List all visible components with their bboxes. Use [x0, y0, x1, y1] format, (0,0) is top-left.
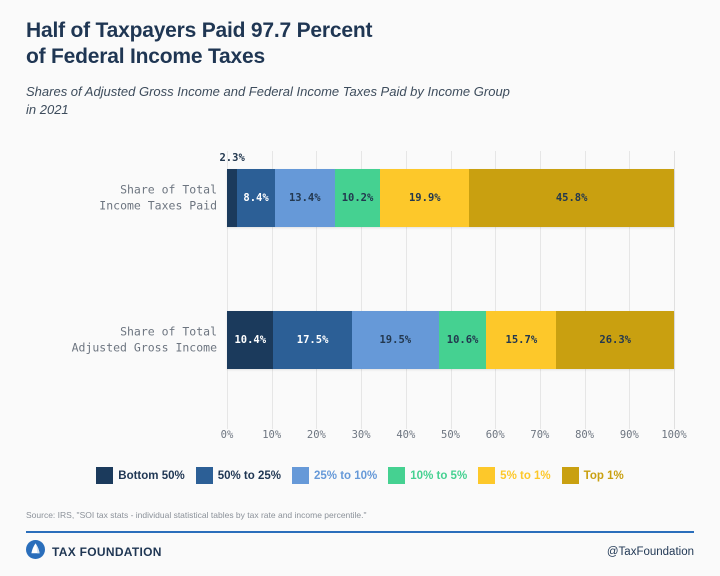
- x-tick-label: 100%: [661, 429, 686, 441]
- legend-label: Bottom 50%: [118, 470, 184, 482]
- brand: TAX FOUNDATION: [26, 540, 162, 564]
- x-tick-label: 80%: [575, 429, 594, 441]
- legend-swatch-icon: [478, 467, 495, 484]
- bar-segment[interactable]: 17.5%: [273, 311, 351, 369]
- bar-segment[interactable]: 19.9%: [380, 169, 469, 227]
- x-tick-label: 60%: [486, 429, 505, 441]
- legend-swatch-icon: [96, 467, 113, 484]
- bar-segment-label: 19.9%: [409, 192, 441, 204]
- bar-segment-label: 19.5%: [379, 334, 411, 346]
- category-label: Share of Total Adjusted Gross Income: [27, 324, 217, 357]
- chart-figure: Half of Taxpayers Paid 97.7 Percent of F…: [0, 0, 720, 576]
- legend-swatch-icon: [388, 467, 405, 484]
- gridline: [674, 151, 675, 429]
- chart-subtitle: Shares of Adjusted Gross Income and Fede…: [26, 83, 686, 119]
- legend-label: 10% to 5%: [410, 470, 467, 482]
- bar-segment[interactable]: 19.5%: [352, 311, 439, 369]
- bar-segment-label: 10.6%: [447, 334, 479, 346]
- social-handle: @TaxFoundation: [607, 546, 694, 558]
- legend-swatch-icon: [292, 467, 309, 484]
- bar-segment-label: 15.7%: [506, 334, 538, 346]
- bar-segment[interactable]: 10.6%: [439, 311, 486, 369]
- legend-label: Top 1%: [584, 470, 624, 482]
- plot-area: Share of Total Income Taxes Paid2.3%2.3%…: [0, 133, 720, 465]
- bar-row: Share of Total Income Taxes Paid2.3%2.3%…: [227, 169, 674, 227]
- legend-label: 50% to 25%: [218, 470, 281, 482]
- legend-item[interactable]: 10% to 5%: [388, 467, 467, 484]
- bar-segment-label: 10.2%: [342, 192, 374, 204]
- x-tick-label: 50%: [441, 429, 460, 441]
- x-axis: 0%10%20%30%40%50%60%70%80%90%100%: [227, 429, 674, 445]
- bar-segment-callout: 2.3%: [219, 152, 244, 164]
- legend-item[interactable]: Bottom 50%: [96, 467, 184, 484]
- bar-segment-label: 45.8%: [556, 192, 588, 204]
- stacked-bar: 10.4%17.5%19.5%10.6%15.7%26.3%: [227, 311, 674, 369]
- legend-label: 25% to 10%: [314, 470, 377, 482]
- bar-segment[interactable]: 10.2%: [335, 169, 381, 227]
- legend-label: 5% to 1%: [500, 470, 551, 482]
- legend-swatch-icon: [562, 467, 579, 484]
- x-tick-label: 0%: [221, 429, 234, 441]
- bar-row: Share of Total Adjusted Gross Income10.4…: [227, 311, 674, 369]
- category-label: Share of Total Income Taxes Paid: [27, 182, 217, 215]
- page-title: Half of Taxpayers Paid 97.7 Percent of F…: [26, 18, 694, 70]
- bar-segment-label: 10.4%: [234, 334, 266, 346]
- legend-item[interactable]: Top 1%: [562, 467, 624, 484]
- chart-header: Half of Taxpayers Paid 97.7 Percent of F…: [0, 0, 720, 119]
- bar-segment-label: 17.5%: [297, 334, 329, 346]
- bar-segment[interactable]: 2.3%: [227, 169, 237, 227]
- grid-area: Share of Total Income Taxes Paid2.3%2.3%…: [227, 151, 674, 465]
- legend-item[interactable]: 50% to 25%: [196, 467, 281, 484]
- bar-segment[interactable]: 8.4%: [237, 169, 275, 227]
- bar-segment-label: 26.3%: [599, 334, 631, 346]
- bar-segment[interactable]: 13.4%: [275, 169, 335, 227]
- chart-legend: Bottom 50%50% to 25%25% to 10%10% to 5%5…: [0, 465, 720, 484]
- source-note: Source: IRS, "SOI tax stats - individual…: [0, 510, 720, 522]
- legend-item[interactable]: 5% to 1%: [478, 467, 551, 484]
- brand-name: TAX FOUNDATION: [52, 545, 162, 559]
- bar-segment[interactable]: 15.7%: [486, 311, 556, 369]
- legend-item[interactable]: 25% to 10%: [292, 467, 377, 484]
- x-tick-label: 70%: [530, 429, 549, 441]
- bar-segment[interactable]: 45.8%: [469, 169, 674, 227]
- x-tick-label: 10%: [262, 429, 281, 441]
- bar-segment[interactable]: 26.3%: [556, 311, 674, 369]
- x-tick-label: 40%: [396, 429, 415, 441]
- bar-segment[interactable]: 10.4%: [227, 311, 273, 369]
- x-tick-label: 20%: [307, 429, 326, 441]
- stacked-bar: 2.3%8.4%13.4%10.2%19.9%45.8%: [227, 169, 674, 227]
- chart-footer: TAX FOUNDATION @TaxFoundation: [0, 533, 720, 576]
- bar-segment-label: 8.4%: [243, 192, 268, 204]
- x-tick-label: 30%: [352, 429, 371, 441]
- x-tick-label: 90%: [620, 429, 639, 441]
- legend-swatch-icon: [196, 467, 213, 484]
- tax-foundation-logo-icon: [26, 540, 45, 564]
- bar-segment-label: 13.4%: [289, 192, 321, 204]
